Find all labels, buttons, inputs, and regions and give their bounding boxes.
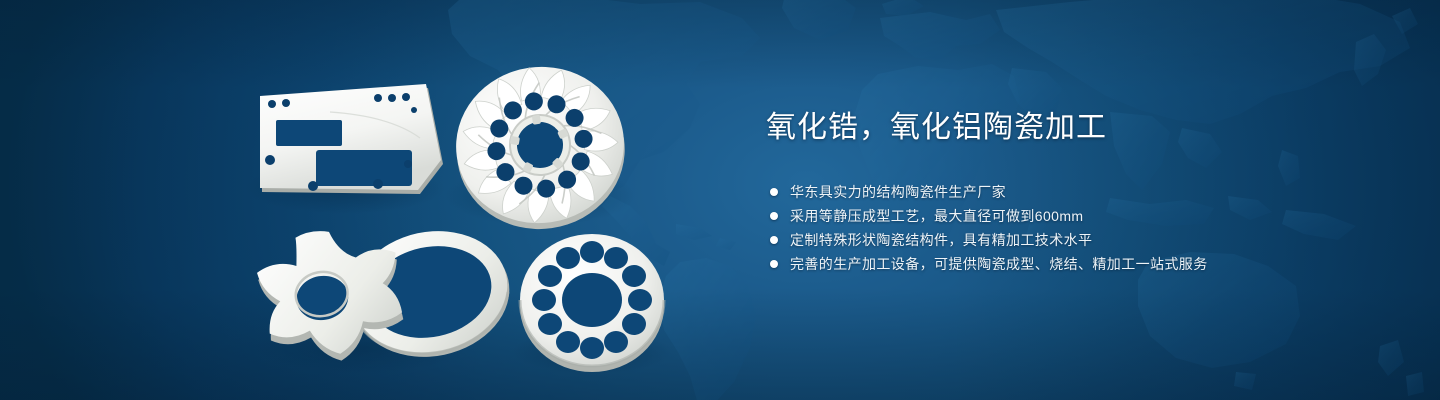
- feature-text: 完善的生产加工设备，可提供陶瓷成型、烧结、精加工一站式服务: [790, 252, 1208, 276]
- list-item: 完善的生产加工设备，可提供陶瓷成型、烧结、精加工一站式服务: [770, 252, 1386, 276]
- feature-text: 华东具实力的结构陶瓷件生产厂家: [790, 180, 1006, 204]
- list-item: 华东具实力的结构陶瓷件生产厂家: [770, 180, 1386, 204]
- list-item: 采用等静压成型工艺，最大直径可做到600mm: [770, 204, 1386, 228]
- bullet-dot-icon: [770, 260, 778, 268]
- feature-list: 华东具实力的结构陶瓷件生产厂家 采用等静压成型工艺，最大直径可做到600mm 定…: [770, 180, 1386, 276]
- feature-text: 定制特殊形状陶瓷结构件，具有精加工技术水平: [790, 228, 1092, 252]
- bullet-dot-icon: [770, 212, 778, 220]
- bullet-dot-icon: [770, 188, 778, 196]
- list-item: 定制特殊形状陶瓷结构件，具有精加工技术水平: [770, 228, 1386, 252]
- bullet-dot-icon: [770, 236, 778, 244]
- feature-text: 采用等静压成型工艺，最大直径可做到600mm: [790, 204, 1083, 228]
- banner-copy: 氧化锆，氧化铝陶瓷加工 华东具实力的结构陶瓷件生产厂家 采用等静压成型工艺，最大…: [766, 108, 1386, 276]
- page-title: 氧化锆，氧化铝陶瓷加工: [766, 108, 1386, 148]
- promo-banner: 氧化锆，氧化铝陶瓷加工 华东具实力的结构陶瓷件生产厂家 采用等静压成型工艺，最大…: [0, 0, 1440, 400]
